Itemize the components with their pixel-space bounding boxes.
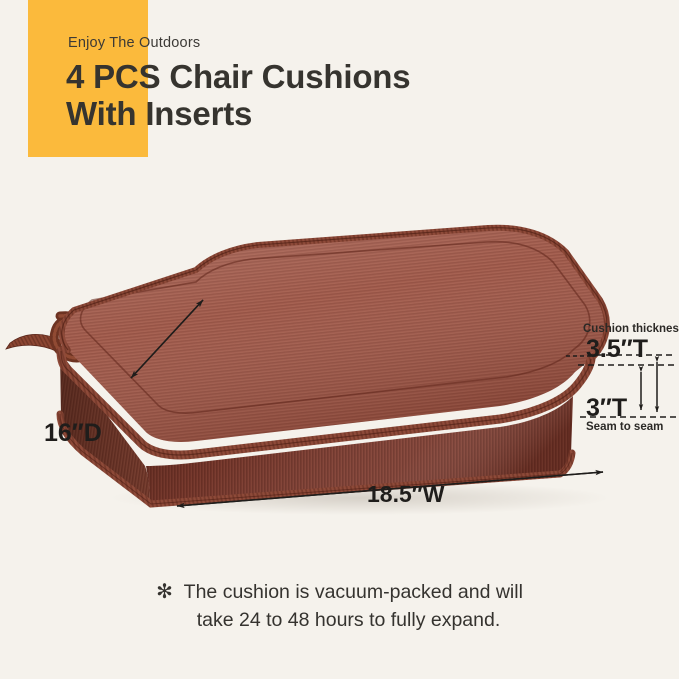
asterisk-icon: ✻: [156, 581, 173, 603]
footnote-line-1: ✻ The cushion is vacuum-packed and will: [0, 578, 679, 607]
footnote-line-2: take 24 to 48 hours to fully expand.: [0, 607, 679, 635]
width-label: 18.5″W: [367, 481, 445, 508]
cushion-thickness-label: 3.5″T: [586, 335, 648, 364]
cushion-thickness-caption: Cushion thickness: [583, 323, 679, 335]
footnote-text-1: The cushion is vacuum-packed and will: [184, 581, 523, 603]
seam-to-seam-caption: Seam to seam: [586, 421, 663, 433]
seam-thickness-label: 3″T: [586, 394, 627, 423]
depth-label: 16″D: [44, 419, 102, 448]
footnote: ✻ The cushion is vacuum-packed and will …: [0, 578, 679, 634]
